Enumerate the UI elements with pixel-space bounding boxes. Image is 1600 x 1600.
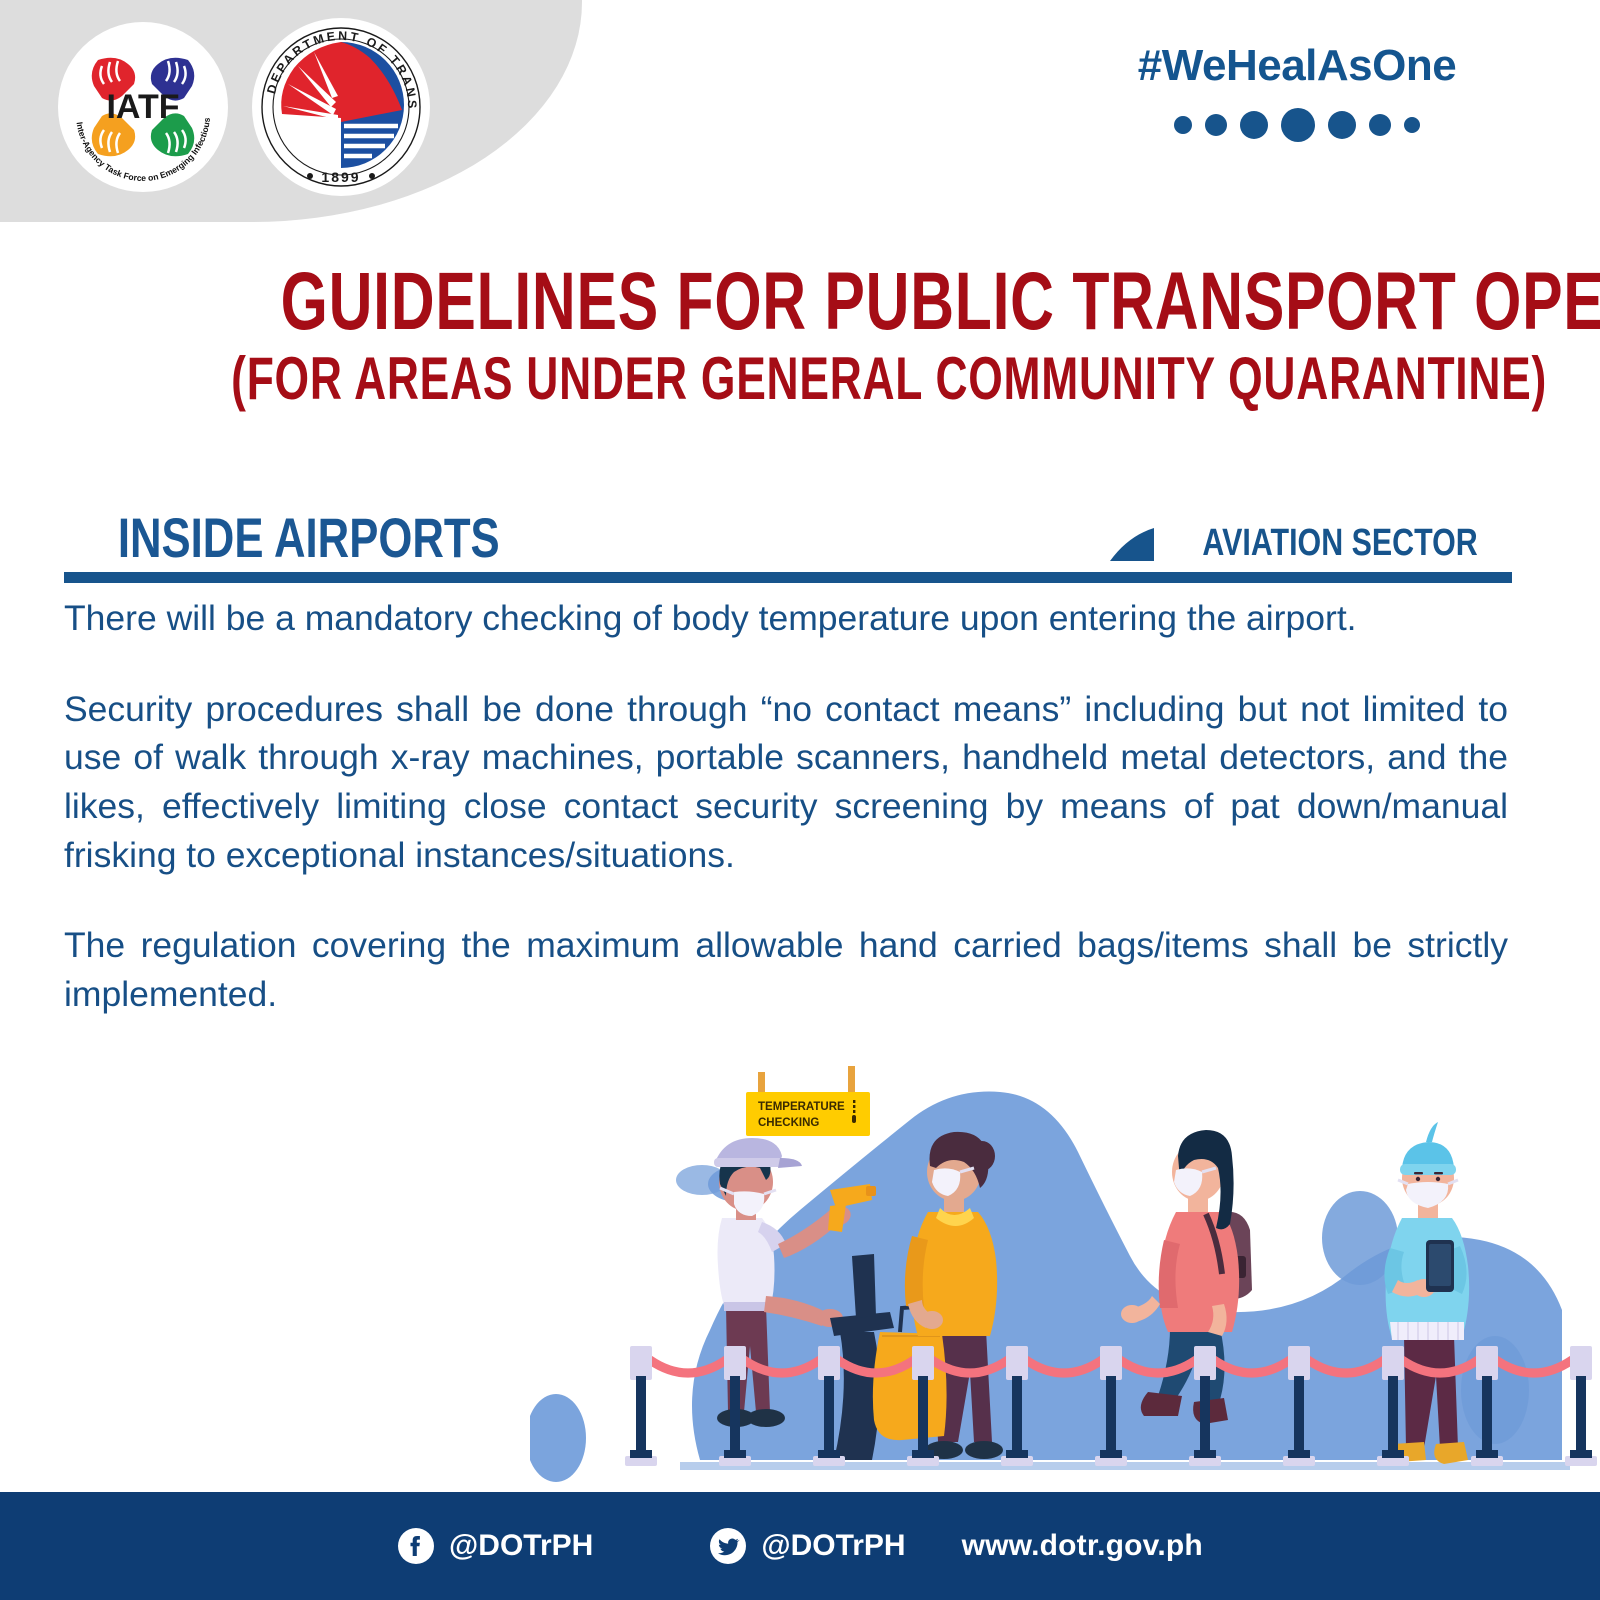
section-heading-text: INSIDE AIRPORTS [118, 510, 500, 566]
hashtag-dot [1369, 114, 1391, 136]
hashtag-dot [1328, 111, 1356, 139]
sector-label-wrap: AVIATION SECTOR [1168, 524, 1512, 562]
facebook-link[interactable]: @DOTrPH [397, 1527, 593, 1565]
temperature-sign: TEMPERATURE CHECKING [746, 1066, 870, 1136]
wing-triangle-icon [1110, 528, 1154, 562]
header-gray-band: IATF Inter-Agency Task Force on Emerging… [0, 0, 582, 222]
page-title-line-1-text: GUIDELINES FOR PUBLIC TRANSPORT OPERATIO… [281, 262, 1600, 342]
svg-text:1899: 1899 [321, 169, 360, 185]
hashtag-dot-row [1082, 108, 1512, 142]
website-link[interactable]: www.dotr.gov.ph [962, 1529, 1203, 1563]
hashtag-dot [1240, 111, 1268, 139]
footer: @DOTrPH @DOTrPH www.dotr.gov.ph [0, 1492, 1600, 1600]
body-text: There will be a mandatory checking of bo… [64, 594, 1508, 1018]
page-title-line-2-text: (FOR AREAS UNDER GENERAL COMMUNITY QUARA… [231, 346, 1547, 412]
hashtag-dot [1174, 116, 1192, 134]
hashtag-dot [1404, 117, 1420, 133]
twitter-icon [709, 1527, 747, 1565]
section-header: INSIDE AIRPORTS AVIATION SECTOR [64, 505, 1512, 583]
hashtag-block: #WeHealAsOne [1082, 44, 1512, 142]
hashtag-text: #WeHealAsOne [1082, 44, 1512, 88]
airport-temperature-checking-illustration: TEMPERATURE CHECKING [530, 1060, 1600, 1492]
page-title-line-2: (FOR AREAS UNDER GENERAL COMMUNITY QUARA… [0, 346, 1600, 412]
smartphone [1426, 1240, 1454, 1292]
body-paragraph-2: Security procedures shall be done throug… [64, 685, 1508, 880]
page-title-line-1: GUIDELINES FOR PUBLIC TRANSPORT OPERATIO… [0, 262, 1600, 342]
dotr-logo: DEPARTMENT OF TRANSPORTATION 1899 [252, 18, 430, 196]
section-heading: INSIDE AIRPORTS [64, 510, 554, 572]
svg-text:TEMPERATURE: TEMPERATURE [758, 1101, 845, 1113]
svg-text:IATF: IATF [106, 88, 179, 126]
iatf-logo: IATF Inter-Agency Task Force on Emerging… [58, 22, 228, 192]
facebook-icon [397, 1527, 435, 1565]
sector-badge: AVIATION SECTOR [1110, 524, 1512, 572]
hashtag-dot [1205, 114, 1227, 136]
facebook-handle: @DOTrPH [449, 1529, 593, 1563]
twitter-handle: @DOTrPH [761, 1529, 905, 1563]
logo-row: IATF Inter-Agency Task Force on Emerging… [0, 0, 582, 222]
svg-text:CHECKING: CHECKING [758, 1117, 819, 1129]
twitter-link[interactable]: @DOTrPH [709, 1527, 905, 1565]
hashtag-dot [1281, 108, 1315, 142]
sector-label-text: AVIATION SECTOR [1202, 524, 1477, 562]
page-title: GUIDELINES FOR PUBLIC TRANSPORT OPERATIO… [0, 262, 1600, 412]
body-paragraph-1: There will be a mandatory checking of bo… [64, 594, 1508, 643]
body-paragraph-3: The regulation covering the maximum allo… [64, 921, 1508, 1018]
